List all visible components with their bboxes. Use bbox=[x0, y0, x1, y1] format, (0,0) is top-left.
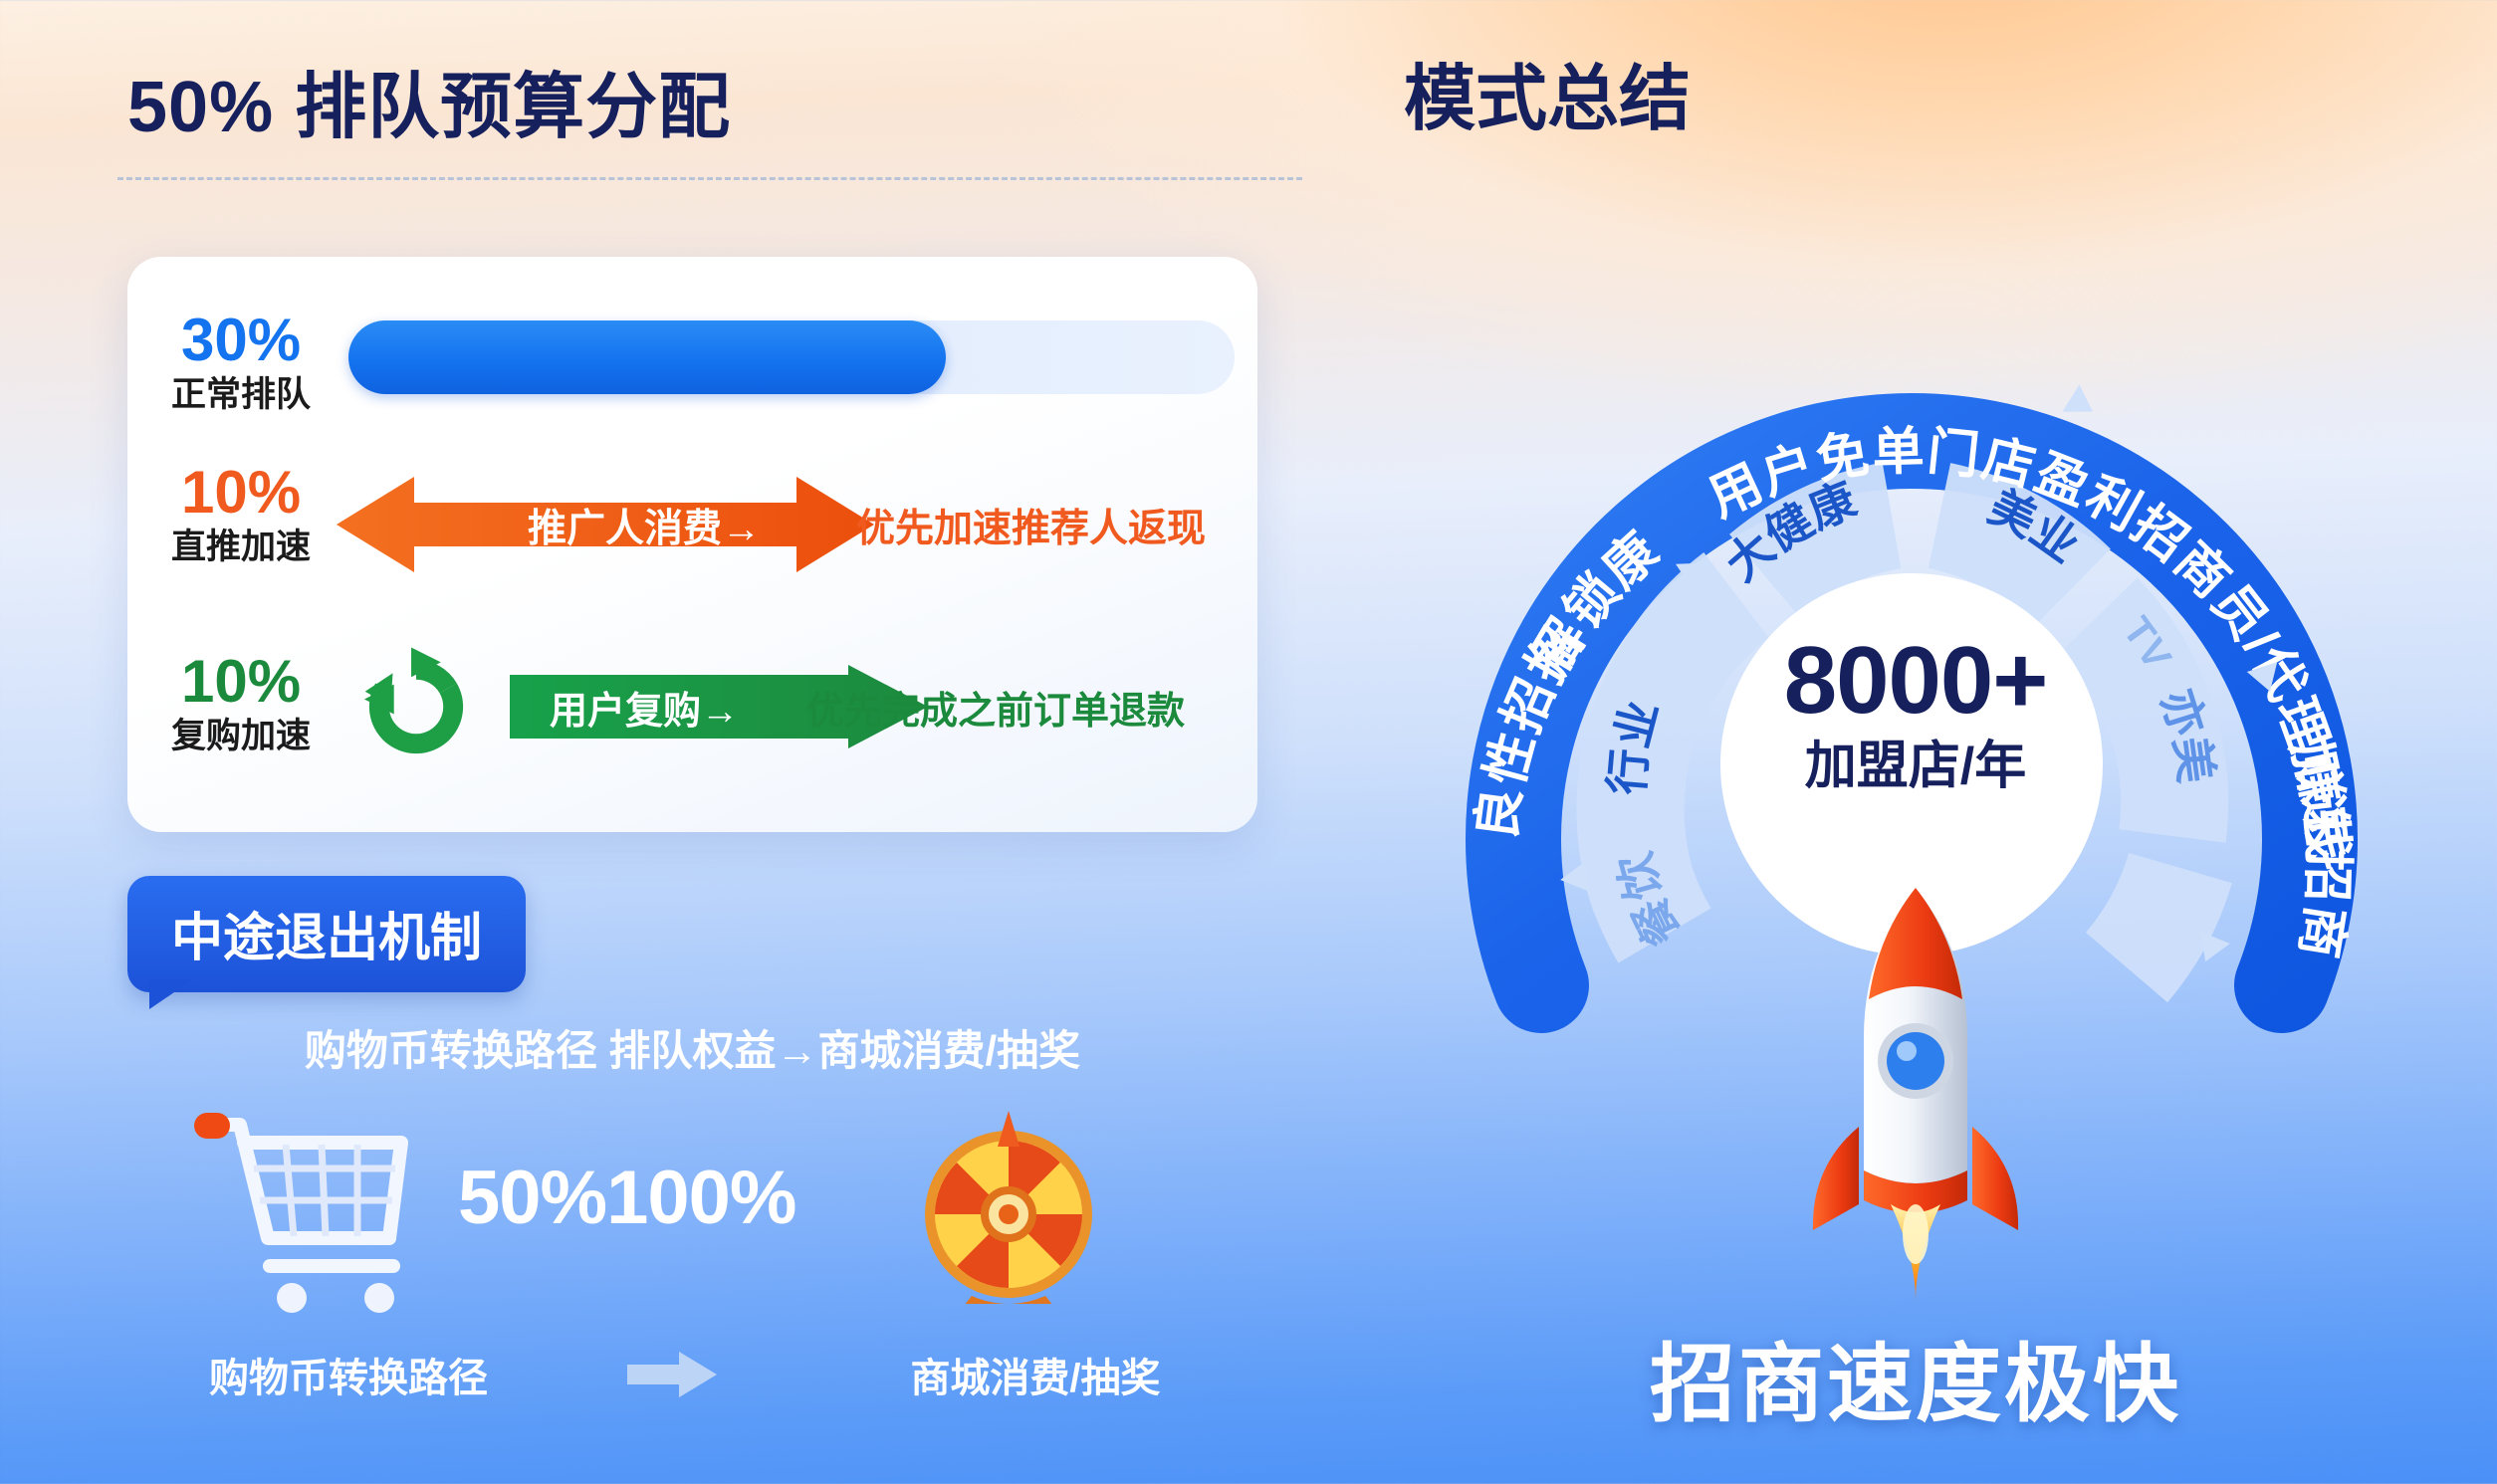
conversion-percentages: 50%100% bbox=[458, 1155, 796, 1241]
badge-tail bbox=[149, 979, 193, 1009]
row-30-value: 30% bbox=[141, 311, 340, 370]
row-10-direct-arrow-text: 推广人消费→ bbox=[528, 498, 761, 553]
left-title: 50% 排队预算分配 bbox=[127, 48, 731, 152]
caption-mall-lottery: 商城消费/抽奖 bbox=[836, 1346, 1235, 1403]
left-title-divider bbox=[117, 177, 1302, 180]
center-stat-unit: 加盟店/年 bbox=[1784, 735, 2048, 799]
row-10-repurchase-arrow-text: 用户复购→ bbox=[550, 680, 739, 735]
row-30-label: 正常排队 bbox=[141, 373, 340, 417]
row-10-direct-label: 直推加速 bbox=[141, 526, 340, 569]
recycle-icon bbox=[354, 645, 478, 768]
progress-bar-fill bbox=[348, 320, 946, 394]
caption-arrow-icon bbox=[627, 1352, 717, 1397]
right-slogan: 招商速度极快 bbox=[1334, 1314, 2497, 1438]
center-stat-number: 8000+ bbox=[1784, 633, 2048, 729]
rocket-icon bbox=[1781, 884, 2050, 1312]
right-title: 模式总结 bbox=[1404, 40, 1691, 144]
row-10-repurchase-label: 复购加速 bbox=[141, 715, 340, 758]
row-10-direct-percent: 10% 直推加速 bbox=[141, 463, 340, 569]
exit-mechanism-badge: 中途退出机制 bbox=[127, 876, 526, 992]
row-10-direct-tail-text: 优先加速推荐人返现 bbox=[856, 498, 1206, 553]
row-10-repurchase-tail-text: 优先完成之前订单退款 bbox=[806, 680, 1185, 735]
infographic-root: 50% 排队预算分配 30% 正常排队 10% 直推加速 推 bbox=[0, 0, 2497, 1484]
caption-conversion-path: 购物币转换路径 bbox=[149, 1346, 548, 1403]
right-panel: 模式总结 bbox=[1334, 0, 2497, 1484]
prize-wheel-icon bbox=[914, 1105, 1103, 1304]
row-10-repurchase-value: 10% bbox=[141, 652, 340, 712]
center-stat: 8000+ 加盟店/年 bbox=[1784, 633, 2048, 799]
row-10-direct-value: 10% bbox=[141, 463, 340, 523]
row-10-repurchase-percent: 10% 复购加速 bbox=[141, 652, 340, 758]
left-panel: 50% 排队预算分配 30% 正常排队 10% 直推加速 推 bbox=[0, 0, 1334, 1484]
conversion-heading: 购物币转换路径 排队权益→商城消费/抽奖 bbox=[127, 1017, 1257, 1078]
shopping-cart-icon bbox=[194, 1107, 423, 1316]
progress-bar-track bbox=[348, 320, 1235, 394]
row-30-percent: 30% 正常排队 bbox=[141, 311, 340, 417]
